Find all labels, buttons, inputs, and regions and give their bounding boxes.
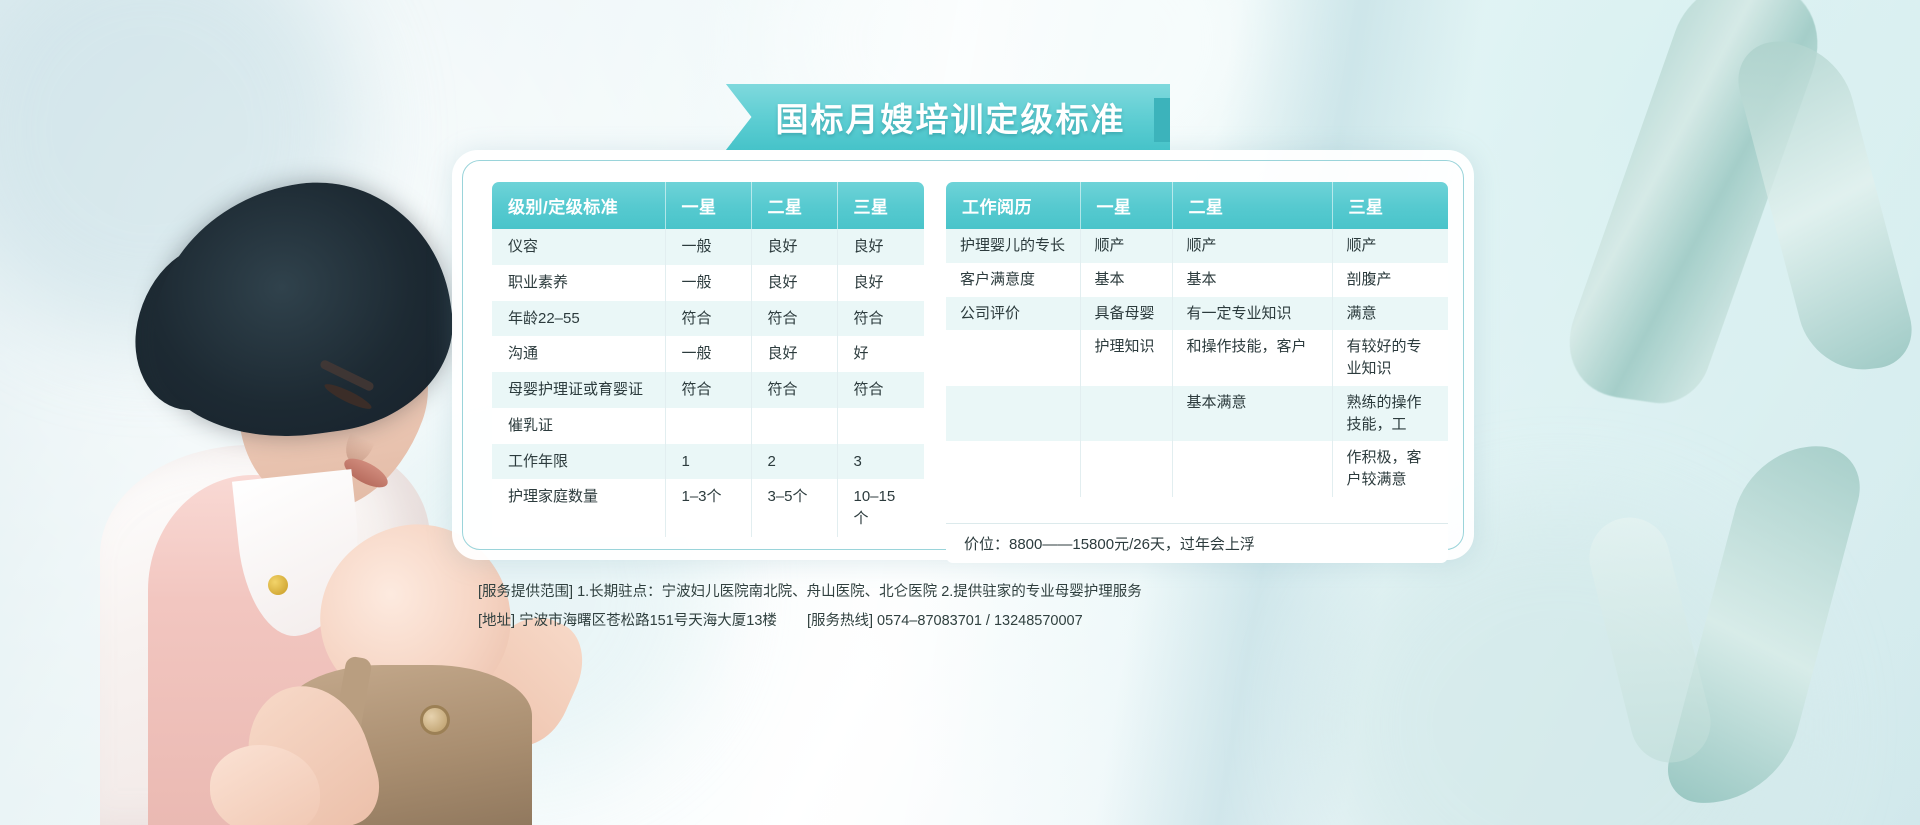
cell-three-star: 有较好的专业知识 [1332, 330, 1448, 386]
cell-two-star [1172, 441, 1332, 497]
cell-three-star: 符合 [837, 372, 924, 408]
table-header-row: 工作阅历 一星 二星 三星 [946, 182, 1448, 229]
cell-one-star [1080, 441, 1172, 497]
col-header-three-star: 三星 [1332, 182, 1448, 229]
table-row: 职业素养 一般 良好 良好 [492, 265, 924, 301]
cell-two-star: 基本 [1172, 263, 1332, 297]
nurse-badge [268, 575, 288, 595]
col-header-one-star: 一星 [665, 182, 751, 229]
cell-one-star: 具备母婴 [1080, 297, 1172, 331]
cell-two-star: 顺产 [1172, 229, 1332, 263]
cell-experience: 护理婴儿的专长 [946, 229, 1080, 263]
cell-two-star: 基本满意 [1172, 386, 1332, 442]
cell-three-star: 10–15个 [837, 479, 924, 537]
table-row: 年龄22–55 符合 符合 符合 [492, 301, 924, 337]
cell-three-star: 熟练的操作技能，工 [1332, 386, 1448, 442]
page-title: 国标月嫂培训定级标准 [750, 93, 1126, 141]
cell-three-star: 剖腹产 [1332, 263, 1448, 297]
col-header-two-star: 二星 [751, 182, 837, 229]
cell-one-star: 一般 [665, 229, 751, 265]
tables-container: 级别/定级标准 一星 二星 三星 仪容 一般 良好 良好 职业素养 一般 良好 [492, 182, 1448, 563]
cell-criteria: 催乳证 [492, 408, 665, 444]
cell-one-star [1080, 386, 1172, 442]
footer-hotline: [服务热线] 0574–87083701 / 13248570007 [807, 613, 1083, 629]
footer-address-line: [地址] 宁波市海曙区苍松路151号天海大厦13楼 [服务热线] 0574–87… [478, 607, 1478, 636]
table-row: 催乳证 [492, 408, 924, 444]
cell-two-star: 良好 [751, 229, 837, 265]
cell-one-star: 一般 [665, 336, 751, 372]
col-header-one-star: 一星 [1080, 182, 1172, 229]
footer-notes: [服务提供范围] 1.长期驻点：宁波妇儿医院南北院、舟山医院、北仑医院 2.提供… [478, 578, 1478, 636]
cell-experience [946, 330, 1080, 386]
cell-criteria: 年龄22–55 [492, 301, 665, 337]
cell-one-star: 1–3个 [665, 479, 751, 537]
cell-three-star: 作积极，客户较满意 [1332, 441, 1448, 497]
cell-three-star: 良好 [837, 265, 924, 301]
table-head: 级别/定级标准 一星 二星 三星 [492, 182, 924, 229]
table-row: 工作年限 1 2 3 [492, 444, 924, 480]
col-header-experience: 工作阅历 [946, 182, 1080, 229]
cell-one-star: 顺产 [1080, 229, 1172, 263]
table-body: 仪容 一般 良好 良好 职业素养 一般 良好 良好 年龄22–55 符合 符合 … [492, 229, 924, 537]
cell-two-star: 符合 [751, 372, 837, 408]
cell-two-star: 3–5个 [751, 479, 837, 537]
work-experience-table: 工作阅历 一星 二星 三星 护理婴儿的专长 顺产 顺产 顺产 客户满意度 [946, 182, 1448, 497]
table-row: 护理家庭数量 1–3个 3–5个 10–15个 [492, 479, 924, 537]
cell-two-star: 2 [751, 444, 837, 480]
cell-two-star: 和操作技能，客户 [1172, 330, 1332, 386]
table-row: 公司评价 具备母婴 有一定专业知识 满意 [946, 297, 1448, 331]
table-row: 护理婴儿的专长 顺产 顺产 顺产 [946, 229, 1448, 263]
cell-experience [946, 386, 1080, 442]
cell-experience: 客户满意度 [946, 263, 1080, 297]
cell-three-star: 良好 [837, 229, 924, 265]
table-header-row: 级别/定级标准 一星 二星 三星 [492, 182, 924, 229]
cell-two-star: 良好 [751, 336, 837, 372]
grading-standard-table: 级别/定级标准 一星 二星 三星 仪容 一般 良好 良好 职业素养 一般 良好 [492, 182, 924, 537]
cell-one-star: 符合 [665, 372, 751, 408]
cell-two-star: 有一定专业知识 [1172, 297, 1332, 331]
cell-criteria: 沟通 [492, 336, 665, 372]
col-header-two-star: 二星 [1172, 182, 1332, 229]
cell-experience: 公司评价 [946, 297, 1080, 331]
col-header-criteria: 级别/定级标准 [492, 182, 665, 229]
cell-three-star: 满意 [1332, 297, 1448, 331]
cell-three-star: 顺产 [1332, 229, 1448, 263]
cell-three-star [837, 408, 924, 444]
cell-criteria: 护理家庭数量 [492, 479, 665, 537]
cell-one-star: 符合 [665, 301, 751, 337]
cell-one-star [665, 408, 751, 444]
table-body: 护理婴儿的专长 顺产 顺产 顺产 客户满意度 基本 基本 剖腹产 公司评价 具备… [946, 229, 1448, 497]
cell-experience [946, 441, 1080, 497]
cell-one-star: 一般 [665, 265, 751, 301]
table-row: 客户满意度 基本 基本 剖腹产 [946, 263, 1448, 297]
cell-criteria: 母婴护理证或育婴证 [492, 372, 665, 408]
cell-two-star: 良好 [751, 265, 837, 301]
cell-one-star: 基本 [1080, 263, 1172, 297]
table-row: 基本满意 熟练的操作技能，工 [946, 386, 1448, 442]
grading-standard-table-panel: 级别/定级标准 一星 二星 三星 仪容 一般 良好 良好 职业素养 一般 良好 [492, 182, 924, 563]
footer-service-scope: [服务提供范围] 1.长期驻点：宁波妇儿医院南北院、舟山医院、北仑医院 2.提供… [478, 578, 1478, 607]
table-row: 护理知识 和操作技能，客户 有较好的专业知识 [946, 330, 1448, 386]
work-experience-table-panel: 工作阅历 一星 二星 三星 护理婴儿的专长 顺产 顺产 顺产 客户满意度 [946, 182, 1448, 563]
table-head: 工作阅历 一星 二星 三星 [946, 182, 1448, 229]
baby-overall-button [420, 705, 450, 735]
cell-three-star: 3 [837, 444, 924, 480]
cell-three-star: 符合 [837, 301, 924, 337]
work-experience-panel-bg: 工作阅历 一星 二星 三星 护理婴儿的专长 顺产 顺产 顺产 客户满意度 [946, 182, 1448, 563]
cell-one-star: 1 [665, 444, 751, 480]
cell-two-star: 符合 [751, 301, 837, 337]
table-row: 母婴护理证或育婴证 符合 符合 符合 [492, 372, 924, 408]
cell-criteria: 职业素养 [492, 265, 665, 301]
table-row: 仪容 一般 良好 良好 [492, 229, 924, 265]
price-note: 价位：8800——15800元/26天，过年会上浮 [946, 523, 1448, 563]
footer-address: [地址] 宁波市海曙区苍松路151号天海大厦13楼 [478, 613, 777, 629]
cell-criteria: 仪容 [492, 229, 665, 265]
table-row: 沟通 一般 良好 好 [492, 336, 924, 372]
col-header-three-star: 三星 [837, 182, 924, 229]
cell-one-star: 护理知识 [1080, 330, 1172, 386]
table-row: 作积极，客户较满意 [946, 441, 1448, 497]
cell-criteria: 工作年限 [492, 444, 665, 480]
title-banner: 国标月嫂培训定级标准 [705, 84, 1170, 150]
cell-three-star: 好 [837, 336, 924, 372]
cell-two-star [751, 408, 837, 444]
